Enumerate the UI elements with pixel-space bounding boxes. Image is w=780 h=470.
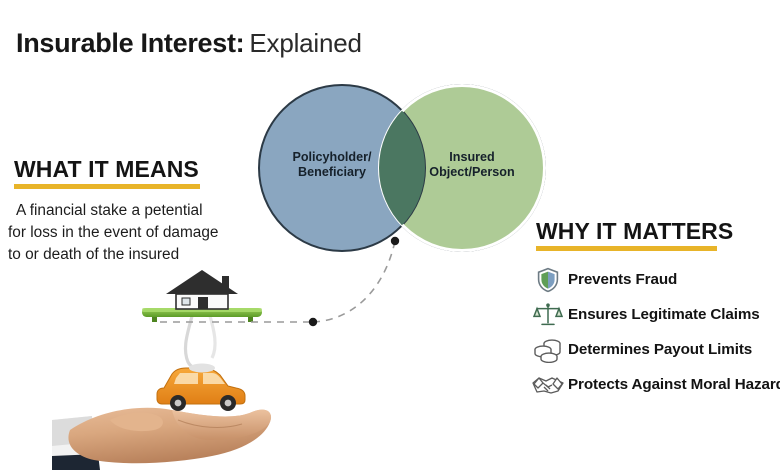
infographic-canvas: Insurable Interest:Explained WHAT IT MEA…: [0, 0, 780, 470]
list-item: Protects Against Moral Hazard: [528, 367, 780, 402]
what-it-means-heading: WHAT IT MEANS: [14, 157, 200, 189]
coins-icon: [528, 335, 568, 365]
venn-label-policyholder: Policyholder/ Beneficiary: [272, 150, 392, 181]
venn-label-policyholder-line2: Beneficiary: [298, 165, 366, 179]
illustration-hand-house-car: [52, 270, 317, 470]
support-stem: [185, 316, 215, 373]
page-title-main: Insurable Interest:: [16, 28, 244, 58]
handshake-icon: [528, 370, 568, 400]
page-title-sub: Explained: [249, 28, 361, 58]
venn-label-policyholder-line1: Policyholder/: [292, 150, 371, 164]
list-item-label: Determines Payout Limits: [568, 341, 752, 358]
house-icon: [166, 270, 238, 309]
platform: [142, 308, 262, 322]
why-it-matters-heading: WHY IT MATTERS: [536, 219, 733, 251]
list-item: Prevents Fraud: [528, 262, 780, 297]
shield-icon: [528, 265, 568, 295]
why-it-matters-underline: [536, 246, 717, 251]
list-item-label: Ensures Legitimate Claims: [568, 306, 760, 323]
venn-diagram: Policyholder/ Beneficiary Insured Object…: [258, 84, 546, 252]
what-it-means-body-line: to or death of the insured: [8, 244, 240, 266]
page-title: Insurable Interest:Explained: [16, 28, 362, 59]
venn-label-insured-line2: Object/Person: [429, 165, 514, 179]
what-it-means-body: A financial stake a petential for loss i…: [8, 200, 240, 266]
list-item-label: Protects Against Moral Hazard: [568, 376, 780, 393]
venn-label-insured: Insured Object/Person: [410, 150, 534, 181]
why-it-matters-list: Prevents Fraud Ensures Legitimate Claims: [528, 262, 780, 402]
why-it-matters-heading-label: WHY IT MATTERS: [536, 219, 733, 243]
list-item: Determines Payout Limits: [528, 332, 780, 367]
list-item: Ensures Legitimate Claims: [528, 297, 780, 332]
what-it-means-underline: [14, 184, 200, 189]
car-icon: [157, 368, 245, 411]
scales-icon: [528, 300, 568, 330]
list-item-label: Prevents Fraud: [568, 271, 677, 288]
what-it-means-body-line: for loss in the event of damage: [8, 222, 240, 244]
venn-label-insured-line1: Insured: [449, 150, 495, 164]
what-it-means-heading-label: WHAT IT MEANS: [14, 157, 200, 181]
what-it-means-body-line: A financial stake a petential: [8, 200, 240, 222]
